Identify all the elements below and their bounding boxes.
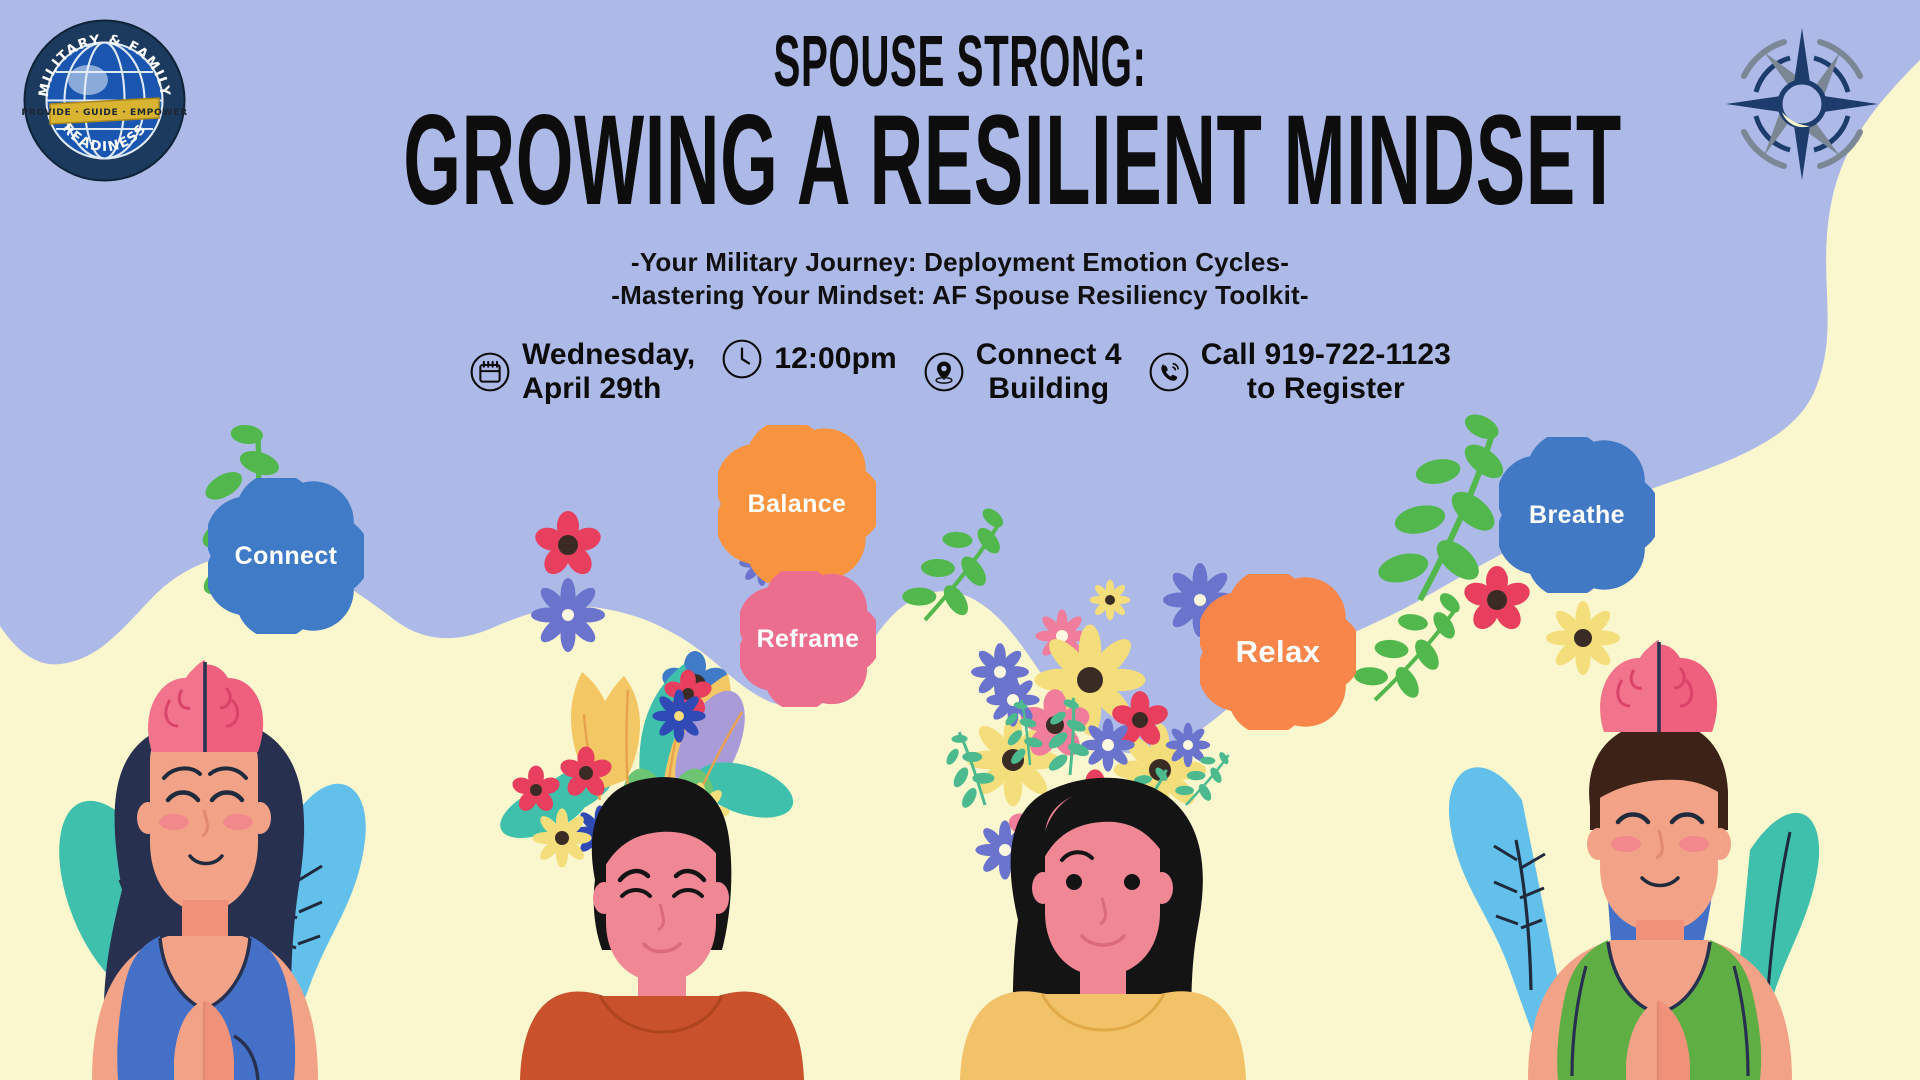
military-family-readiness-logo: PROVIDE · GUIDE · EMPOWER MILITARY & FAM… — [22, 18, 187, 188]
detail-text: Call 919-722-1123 to Register — [1201, 338, 1451, 405]
phone-icon — [1148, 351, 1190, 393]
detail-text: Connect 4 Building — [976, 338, 1122, 405]
word-flower-relax: Relax — [1200, 574, 1356, 730]
figure-person-leaves-rust-shirt — [492, 664, 804, 1080]
word-flower-reframe: Reframe — [740, 571, 876, 707]
word-flower-balance: Balance — [718, 425, 876, 583]
detail-item-calendar: Wednesday, April 29th — [469, 338, 695, 405]
poster-canvas: Connect Balance Reframe Relax Breathe — [0, 0, 1920, 1080]
event-details-row: Wednesday, April 29th 12:00pm Connect 4 … — [0, 338, 1920, 405]
detail-item-location-pin: Connect 4 Building — [923, 338, 1122, 405]
logo-banner-text: PROVIDE · GUIDE · EMPOWER — [22, 107, 187, 118]
word-flower-connect: Connect — [208, 478, 364, 634]
detail-text: 12:00pm — [774, 342, 896, 376]
detail-item-clock: 12:00pm — [721, 338, 896, 380]
detail-item-phone: Call 919-722-1123 to Register — [1148, 338, 1451, 405]
detail-text: Wednesday, April 29th — [522, 338, 695, 405]
figure-woman-flowers-yellow-shirt — [960, 778, 1246, 1080]
compass-rose-icon — [1712, 14, 1892, 199]
location-pin-icon — [923, 351, 965, 393]
figure-woman-brain-blue-top — [34, 660, 365, 1080]
word-flower-breathe: Breathe — [1499, 437, 1655, 593]
figure-man-brain-green-top — [1449, 640, 1819, 1080]
clock-icon — [721, 338, 763, 380]
calendar-icon — [469, 351, 511, 393]
